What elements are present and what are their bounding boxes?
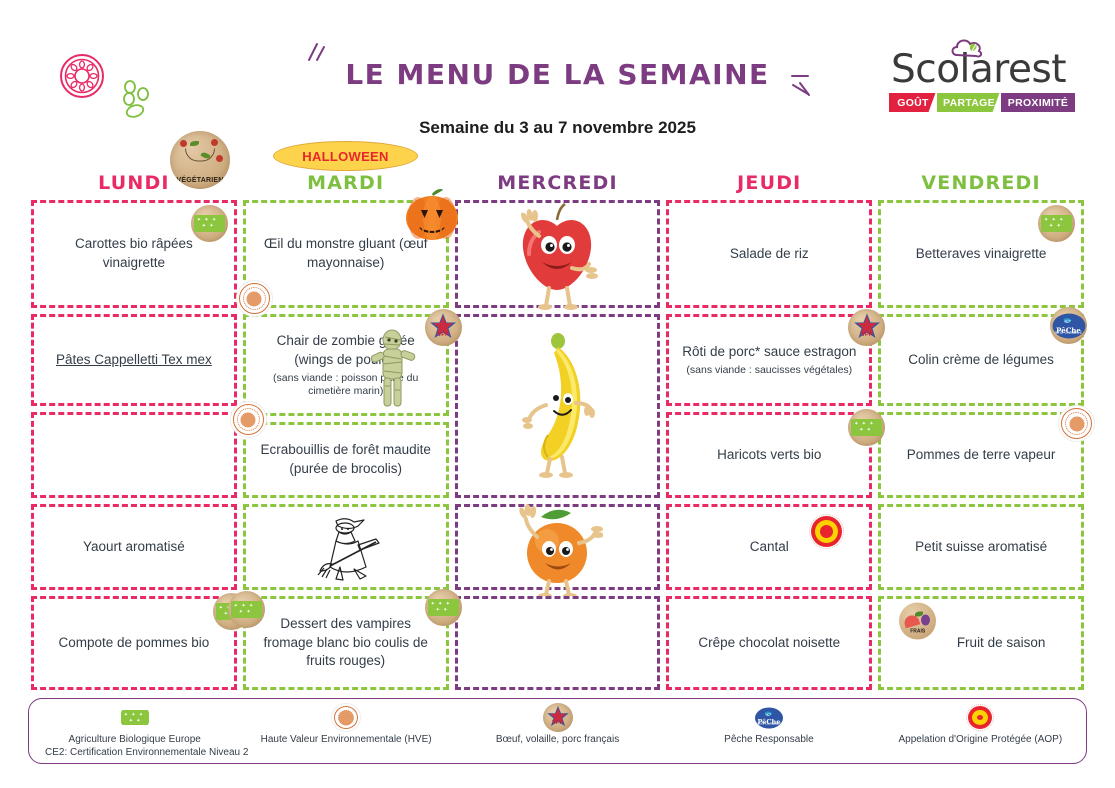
menu-cell-vendredi-main[interactable]: 🐟 PêChe RESPONSABLE Colin crème de légum… xyxy=(878,314,1084,406)
sparkle-right-icon xyxy=(788,72,814,98)
legend-panel: Agriculture Biologique Europe Haute Vale… xyxy=(28,698,1087,764)
menu-cell-mardi-dairy[interactable] xyxy=(243,504,449,590)
cloud-leaf-icon xyxy=(950,36,986,60)
legend-item-hve: Haute Valeur Environnementale (HVE) xyxy=(240,699,451,745)
dish-text: Haricots verts bio xyxy=(717,446,821,465)
dish-text: Colin crème de légumes xyxy=(908,351,1054,370)
legend-label: Agriculture Biologique Europe xyxy=(69,734,201,745)
week-subtitle: Semaine du 3 au 7 novembre 2025 xyxy=(0,118,1115,138)
menu-cell-mardi-side[interactable]: Ecrabouillis de forêt maudite (purée de … xyxy=(243,422,449,498)
legend-item-aop: Appelation d'Origine Protégée (AOP) xyxy=(875,699,1086,745)
peche-icon: 🐟 PêChe RESPONSABLE xyxy=(1050,307,1087,344)
dish-text: Pâtes Cappelletti Tex mex xyxy=(56,352,212,367)
day-header-jeudi: JEUDI xyxy=(663,172,875,196)
dish-text: Compote de pommes bio xyxy=(58,634,209,653)
menu-column-jeudi: Salade de riz VPF Rôti de porc* sauce es… xyxy=(663,200,875,696)
bio-icon xyxy=(191,205,228,242)
day-header-vendredi: VENDREDI xyxy=(875,172,1087,196)
dish-text: Pommes de terre vapeur xyxy=(907,446,1056,465)
menu-cell-mercredi-dessert[interactable] xyxy=(455,596,661,690)
menu-cell-jeudi-dessert[interactable]: Crêpe chocolat noisette xyxy=(666,596,872,690)
band-proximite-label: PROXIMITÉ xyxy=(1008,97,1068,109)
menu-cell-jeudi-main[interactable]: VPF Rôti de porc* sauce estragon (sans v… xyxy=(666,314,872,406)
menu-cell-vendredi-starter[interactable]: Betteraves vinaigrette xyxy=(878,200,1084,308)
dish-text: Cantal xyxy=(750,538,789,557)
vpf-icon: VPF xyxy=(425,309,462,346)
menu-cell-mardi-dessert[interactable]: Dessert des vampires fromage blanc bio c… xyxy=(243,596,449,690)
menu-cell-vendredi-dairy[interactable]: Petit suisse aromatisé xyxy=(878,504,1084,590)
legend-item-vpf: VPF Bœuf, volaille, porc français xyxy=(452,699,663,745)
page-header: VÉGÉTARIEN LE MENU DE LA SEMAINE Semaine… xyxy=(0,0,1115,170)
menu-cell-vendredi-dessert[interactable]: FRAIS Fruit de saison xyxy=(878,596,1084,690)
mummy-icon xyxy=(370,328,416,410)
band-proximite: PROXIMITÉ xyxy=(1001,93,1075,112)
legend-label: Bœuf, volaille, porc français xyxy=(496,734,619,745)
menu-column-mercredi xyxy=(452,200,664,696)
menu-cell-mercredi-main[interactable] xyxy=(455,314,661,498)
dish-text: Betteraves vinaigrette xyxy=(916,245,1047,264)
hve-icon xyxy=(236,280,273,317)
menu-cell-mercredi-starter[interactable] xyxy=(455,200,661,308)
vpf-label: VPF xyxy=(425,332,462,338)
halloween-badge: HALLOWEEN xyxy=(273,141,418,171)
dish-text: Ecrabouillis de forêt maudite (purée de … xyxy=(256,441,436,478)
bio-icon xyxy=(228,591,265,628)
dish-text: Dessert des vampires fromage blanc bio c… xyxy=(256,615,436,671)
bio-icon xyxy=(425,589,462,626)
menu-cell-lundi-dessert[interactable]: Compote de pommes bio xyxy=(31,596,237,690)
halloween-badge-label: HALLOWEEN xyxy=(302,149,388,164)
menu-cell-lundi-starter[interactable]: Carottes bio râpées vinaigrette xyxy=(31,200,237,308)
dish-text: Crêpe chocolat noisette xyxy=(698,634,840,653)
menu-cell-lundi-side[interactable] xyxy=(31,412,237,498)
page-title: LE MENU DE LA SEMAINE xyxy=(345,58,769,91)
day-header-mercredi: MERCREDI xyxy=(452,172,664,196)
peche-icon: 🐟 PêChe RESPONSABLE xyxy=(754,703,784,732)
dish-text: Yaourt aromatisé xyxy=(83,538,185,557)
dish-text: Salade de riz xyxy=(730,245,809,264)
bio-icon xyxy=(120,703,150,732)
menu-cell-mercredi-dairy[interactable] xyxy=(455,504,661,590)
pumpkin-icon xyxy=(403,186,461,242)
band-gout-label: GOÛT xyxy=(897,97,929,109)
hve-icon xyxy=(1058,405,1095,442)
hve-icon xyxy=(331,703,361,732)
menu-cell-mardi-main[interactable]: VPF Chair de zombie grillée (wings de po… xyxy=(243,314,449,416)
dish-text: Fruit de saison xyxy=(957,634,1046,653)
peche-sublabel: RESPONSABLE xyxy=(1050,331,1087,335)
peche-sublabel: RESPONSABLE xyxy=(754,722,784,726)
day-header-lundi: LUNDI xyxy=(28,172,240,196)
frais-icon: FRAIS xyxy=(899,603,936,640)
menu-cell-jeudi-starter[interactable]: Salade de riz xyxy=(666,200,872,308)
menu-column-lundi: Carottes bio râpées vinaigrette Pâtes Ca… xyxy=(28,200,240,696)
menu-grid: Carottes bio râpées vinaigrette Pâtes Ca… xyxy=(28,200,1087,690)
scolarest-logo: Scolarest GOÛT PARTAGE PROXIMITÉ xyxy=(889,50,1075,112)
legend-item-bio: Agriculture Biologique Europe xyxy=(29,699,240,745)
scolarest-bands: GOÛT PARTAGE PROXIMITÉ xyxy=(889,93,1075,112)
orange-character-icon xyxy=(511,495,603,599)
legend-item-peche: 🐟 PêChe RESPONSABLE Pêche Responsable xyxy=(663,699,874,745)
bio-icon xyxy=(848,409,885,446)
menu-cell-lundi-main[interactable]: Pâtes Cappelletti Tex mex xyxy=(31,314,237,406)
aop-icon xyxy=(808,513,845,550)
band-partage: PARTAGE xyxy=(937,93,1001,112)
hve-icon xyxy=(230,401,267,438)
vpf-icon: VPF xyxy=(543,703,573,732)
legend-note: CE2: Certification Environnementale Nive… xyxy=(45,747,248,758)
menu-column-vendredi: Betteraves vinaigrette 🐟 PêChe RESPONSAB… xyxy=(875,200,1087,696)
dish-subtext: (sans viande : saucisses végétales) xyxy=(682,364,856,377)
legend-label: Appelation d'Origine Protégée (AOP) xyxy=(898,734,1062,745)
vpf-icon: VPF xyxy=(848,309,885,346)
bio-icon xyxy=(1038,205,1075,242)
aop-icon xyxy=(965,703,995,732)
frais-label: FRAIS xyxy=(899,629,936,635)
band-partage-label: PARTAGE xyxy=(943,97,995,109)
day-header-row: LUNDI MARDI MERCREDI JEUDI VENDREDI xyxy=(28,172,1087,196)
apple-character-icon xyxy=(509,198,605,310)
menu-column-mardi: Œil du monstre gluant (œuf mayonnaise) V… xyxy=(240,200,452,696)
legend-items: Agriculture Biologique Europe Haute Vale… xyxy=(29,699,1086,745)
dish-text: Carottes bio râpées vinaigrette xyxy=(44,235,224,272)
band-gout: GOÛT xyxy=(889,93,937,112)
page-title-text: LE MENU DE LA SEMAINE xyxy=(345,58,769,91)
sparkle-left-icon xyxy=(303,40,329,66)
menu-cell-jeudi-side[interactable]: Haricots verts bio xyxy=(666,412,872,498)
menu-cell-lundi-dairy[interactable]: Yaourt aromatisé xyxy=(31,504,237,590)
menu-cell-vendredi-side[interactable]: Pommes de terre vapeur xyxy=(878,412,1084,498)
witch-icon xyxy=(306,511,386,583)
dish-text: Rôti de porc* sauce estragon xyxy=(682,344,856,359)
legend-label: Haute Valeur Environnementale (HVE) xyxy=(261,734,432,745)
banana-character-icon xyxy=(518,331,596,481)
menu-cell-jeudi-dairy[interactable]: Cantal xyxy=(666,504,872,590)
dish-text: Petit suisse aromatisé xyxy=(915,538,1047,557)
vpf-label: VPF xyxy=(848,332,885,338)
legend-label: Pêche Responsable xyxy=(724,734,814,745)
vpf-label: VPF xyxy=(543,720,573,726)
